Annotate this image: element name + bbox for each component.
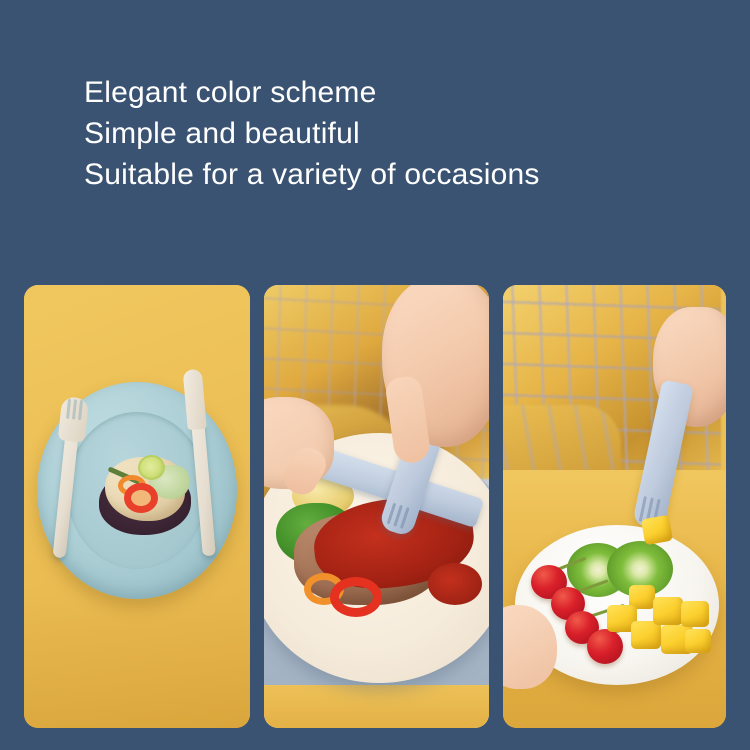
gallery-panel-fruit-plate[interactable]	[503, 285, 726, 728]
headline-line-2: Simple and beautiful	[84, 113, 684, 154]
mango-cube-on-fork	[641, 515, 673, 545]
red-pepper-ring	[330, 577, 382, 617]
cherry	[587, 629, 623, 664]
product-banner: Elegant color scheme Simple and beautifu…	[0, 0, 750, 750]
mango-cube	[685, 629, 711, 653]
mango-cube	[631, 621, 661, 649]
plated-fish-dish	[97, 453, 195, 539]
sauce-pool	[428, 563, 482, 605]
fork-tines	[59, 396, 89, 429]
headline-line-1: Elegant color scheme	[84, 72, 684, 113]
headline-line-3: Suitable for a variety of occasions	[84, 154, 684, 195]
red-chili-ring	[124, 483, 158, 513]
mango-cube	[653, 597, 683, 625]
yellow-table-surface	[264, 685, 489, 728]
lime-slice	[138, 455, 165, 480]
gallery-panel-steak-cutting[interactable]	[264, 285, 489, 728]
gallery-panel-plated-fish[interactable]	[24, 285, 250, 728]
headline-block: Elegant color scheme Simple and beautifu…	[84, 72, 684, 195]
product-photo-gallery	[24, 285, 726, 728]
mango-cube	[681, 601, 709, 627]
